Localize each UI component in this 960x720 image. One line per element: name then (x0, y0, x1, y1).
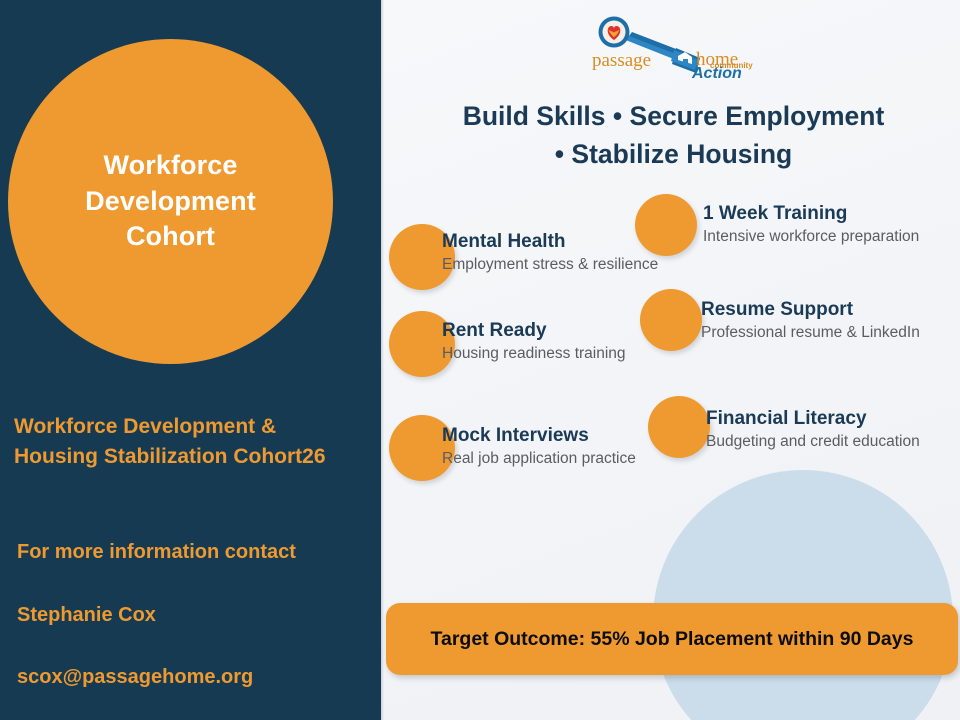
feature-bullet-dot (640, 289, 702, 351)
page-title: Build Skills • Secure Employment • Stabi… (401, 98, 946, 173)
outcome-banner: Target Outcome: 55% Job Placement within… (386, 603, 958, 675)
panel-divider (381, 0, 384, 720)
hero-circle-label: Workforce Development Cohort (85, 148, 256, 255)
slide-canvas: Workforce Development Cohort Workforce D… (0, 0, 960, 720)
feature-bullet-dot (648, 396, 710, 458)
logo-word-action: Action (691, 65, 742, 78)
feature-subtitle: Budgeting and credit education (706, 432, 920, 452)
feature-title: Resume Support (701, 299, 920, 321)
feature-title: Financial Literacy (706, 408, 920, 430)
feature-title: Mental Health (442, 231, 658, 253)
outcome-banner-label: Target Outcome: 55% Job Placement within… (431, 628, 914, 651)
contact-line-name: Stephanie Cox (17, 600, 377, 631)
feature-subtitle: Real job application practice (442, 449, 636, 469)
logo-word-passage: passage (592, 50, 651, 71)
feature-subtitle: Employment stress & resilience (442, 255, 658, 275)
contact-line-email[interactable]: scox@passagehome.org (17, 662, 377, 693)
feature-title: Rent Ready (442, 320, 626, 342)
key-heart-house-logo-icon: passage home community Action (588, 16, 753, 78)
feature-subtitle: Professional resume & LinkedIn (701, 323, 920, 343)
decorative-blue-circle (653, 470, 953, 720)
left-panel: Workforce Development Cohort Workforce D… (0, 0, 381, 720)
right-panel: passage home community Action Build Skil… (381, 0, 960, 720)
feature-title: 1 Week Training (703, 203, 919, 225)
contact-block: For more information contact Stephanie C… (17, 506, 377, 720)
cohort-title: Workforce Development & Housing Stabiliz… (14, 412, 374, 472)
hero-circle: Workforce Development Cohort (8, 39, 333, 364)
feature-subtitle: Housing readiness training (442, 344, 626, 364)
feature-bullet-dot (635, 194, 697, 256)
contact-line-prompt: For more information contact (17, 537, 377, 568)
passage-home-logo: passage home community Action (588, 16, 753, 78)
feature-subtitle: Intensive workforce preparation (703, 227, 919, 247)
feature-title: Mock Interviews (442, 425, 636, 447)
